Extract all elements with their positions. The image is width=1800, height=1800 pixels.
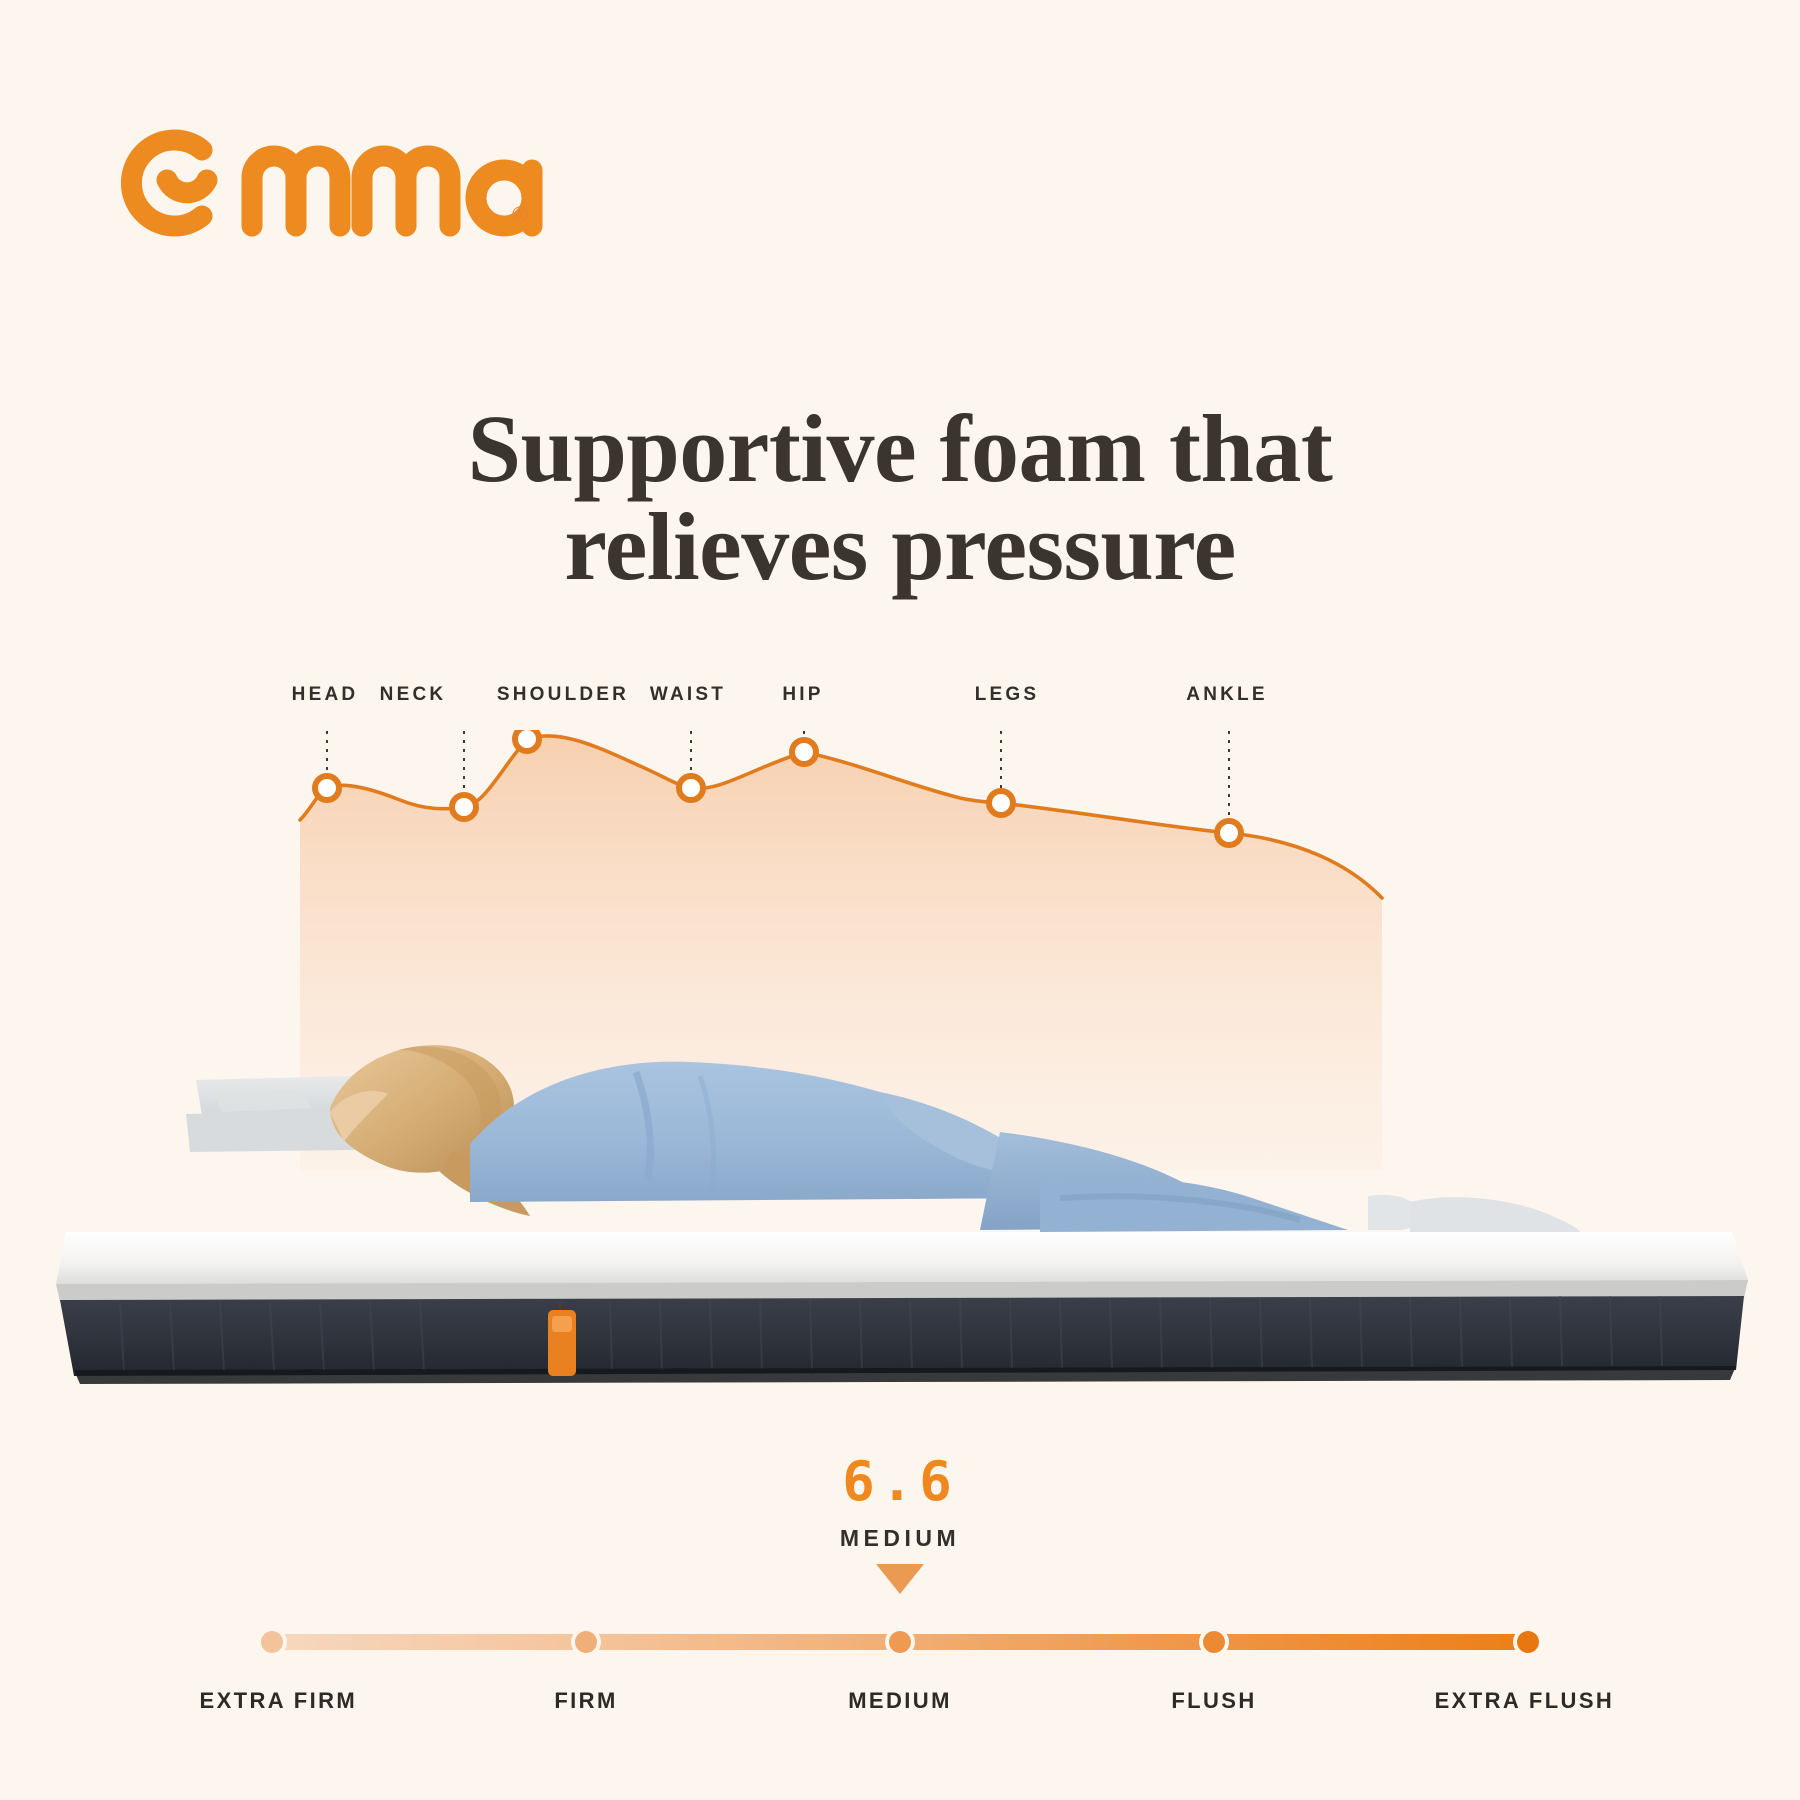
- body-part-label-head: HEAD: [292, 684, 359, 706]
- body-part-label-neck: NECK: [380, 684, 447, 706]
- scale-dot-extra-flush[interactable]: [1517, 1631, 1539, 1653]
- scale-label-flush: FLUSH: [1171, 1688, 1256, 1714]
- scale-dot-medium[interactable]: [889, 1631, 911, 1653]
- scale-dot-flush[interactable]: [1203, 1631, 1225, 1653]
- emma-wordmark: [110, 128, 570, 238]
- scale-label-extra-flush: EXTRA FLUSH: [1435, 1688, 1615, 1714]
- sleeper-figure: [330, 1045, 1580, 1232]
- pressure-node-shoulder[interactable]: [515, 730, 539, 751]
- scale-dot-extra-firm[interactable]: [261, 1631, 283, 1653]
- headline-line-1: Supportive foam that: [0, 400, 1800, 498]
- pressure-node-head[interactable]: [315, 776, 339, 800]
- firmness-score-block: 6.6 MEDIUM: [0, 1455, 1800, 1594]
- registered-trademark-icon: ®: [512, 202, 528, 228]
- scale-dot-firm[interactable]: [575, 1631, 597, 1653]
- pressure-node-waist[interactable]: [679, 776, 703, 800]
- emma-logo: ®: [110, 128, 570, 238]
- pressure-node-neck[interactable]: [452, 795, 476, 819]
- firmness-scale[interactable]: EXTRA FIRMFIRMMEDIUMFLUSHEXTRA FLUSH: [250, 1622, 1550, 1722]
- scale-label-medium: MEDIUM: [848, 1688, 952, 1714]
- scale-label-extra-firm: EXTRA FIRM: [199, 1688, 357, 1714]
- body-part-label-waist: WAIST: [650, 684, 726, 706]
- pressure-node-ankle[interactable]: [1217, 821, 1241, 845]
- body-part-label-legs: LEGS: [975, 684, 1040, 706]
- pressure-node-hip[interactable]: [792, 740, 816, 764]
- headline-line-2: relieves pressure: [0, 498, 1800, 596]
- body-part-label-ankle: ANKLE: [1186, 684, 1267, 706]
- firmness-score-value: 6.6: [0, 1455, 1800, 1509]
- pressure-map-scene: HEADNECKSHOULDERWAISTHIPLEGSANKLE: [0, 730, 1800, 1390]
- firmness-scale-labels: EXTRA FIRMFIRMMEDIUMFLUSHEXTRA FLUSH: [250, 1688, 1550, 1722]
- scale-label-firm: FIRM: [554, 1688, 617, 1714]
- firmness-pointer-icon: [876, 1564, 924, 1594]
- pressure-node-legs[interactable]: [989, 791, 1013, 815]
- firmness-score-label: MEDIUM: [0, 1525, 1800, 1552]
- body-part-label-hip: HIP: [782, 684, 823, 706]
- firmness-scale-track[interactable]: [250, 1622, 1550, 1662]
- mattress-illustration: [0, 880, 1800, 1390]
- emma-tag-icon: [548, 1310, 576, 1376]
- body-part-label-shoulder: SHOULDER: [497, 684, 629, 706]
- page-title: Supportive foam that relieves pressure: [0, 400, 1800, 596]
